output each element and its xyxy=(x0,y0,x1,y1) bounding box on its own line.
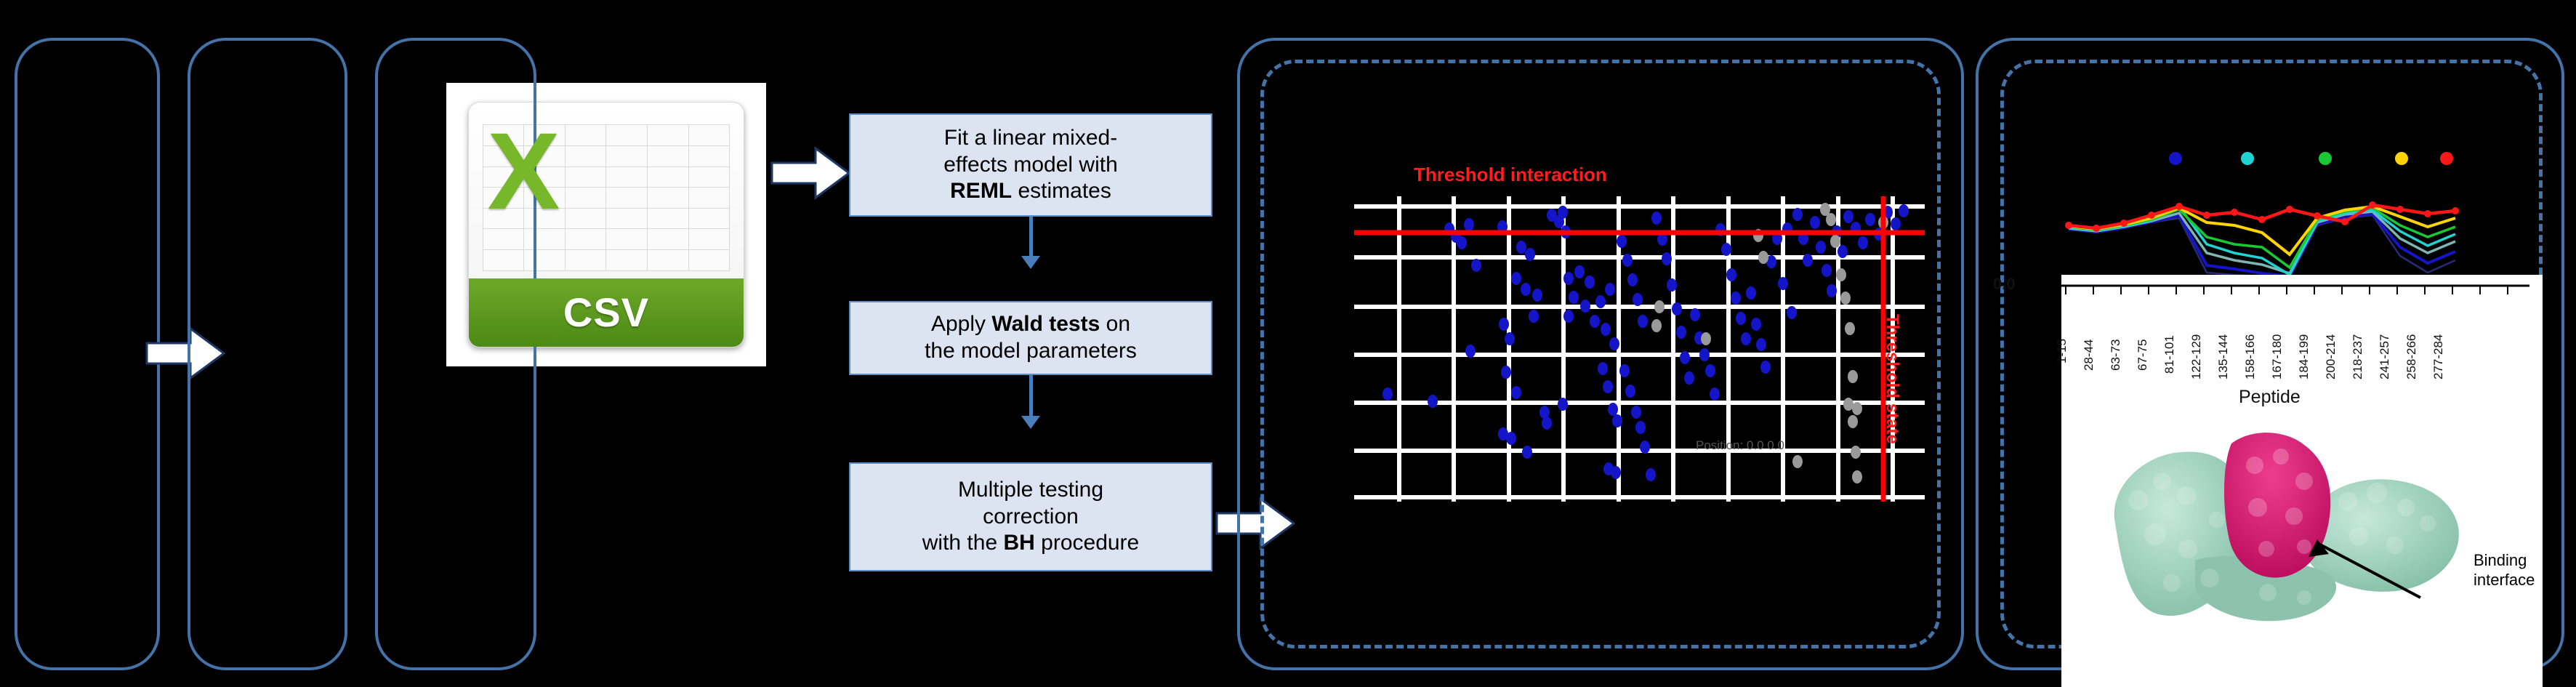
panel-csv-container xyxy=(188,38,347,670)
step3-bh: BH xyxy=(1003,531,1034,555)
csv-format-label: CSV xyxy=(469,278,744,347)
peptide-tick-11: 218-237 xyxy=(2351,334,2365,379)
peptide-tick-0: 1-15 xyxy=(2055,339,2069,363)
peptide-tick-2: 63-73 xyxy=(2109,340,2123,371)
peptide-tick-12: 241-257 xyxy=(2378,334,2392,379)
step1-line1: Fit a linear mixed- xyxy=(944,126,1117,150)
step3-line1: Multiple testing xyxy=(958,478,1103,502)
peptide-tick-8: 167-180 xyxy=(2270,334,2285,379)
peptide-tick-14: 277-284 xyxy=(2431,334,2446,379)
chart-ytick-label: 0.0 xyxy=(1993,275,2016,294)
connector-1-arrowhead xyxy=(1021,256,1040,269)
csv-icon-body: X CSV xyxy=(468,102,744,347)
step2-line2: the model parameters xyxy=(925,339,1137,363)
connector-1 xyxy=(1029,217,1033,257)
peptide-tick-7: 158-166 xyxy=(2243,334,2258,379)
step2-wald: Wald tests xyxy=(991,312,1100,336)
peptide-axis-caption: Peptide xyxy=(2239,387,2301,408)
step1-reml: REML xyxy=(950,179,1012,203)
chart-legend xyxy=(2169,152,2453,165)
excel-x-glyph: X xyxy=(474,108,573,234)
step1-line3-rest: estimates xyxy=(1012,179,1111,203)
protein-structure-svg xyxy=(2086,414,2493,632)
peptide-tick-1: 28-44 xyxy=(2082,340,2096,371)
peptide-tick-4: 81-101 xyxy=(2162,335,2177,374)
panel-input-container xyxy=(15,38,160,670)
peptide-axis xyxy=(2021,284,2529,298)
scatter-threshold-state-label: Threshold state xyxy=(1882,314,1902,444)
csv-file-icon: X CSV xyxy=(446,83,766,366)
peptide-tick-5: 122-129 xyxy=(2189,334,2204,379)
step-fit-model-box: Fit a linear mixed- effects model with R… xyxy=(849,113,1212,217)
binding-interface-line1: Binding xyxy=(2474,551,2535,571)
peptide-tick-6: 135-144 xyxy=(2216,334,2231,379)
peptide-tick-10: 200-214 xyxy=(2324,334,2338,379)
protein-structure-image xyxy=(2086,414,2493,632)
step-wald-tests-box: Apply Wald tests on the model parameters xyxy=(849,301,1212,375)
svg-text:Position: 0.0 0.0: Position: 0.0 0.0 xyxy=(1696,438,1784,452)
connector-2 xyxy=(1029,375,1033,417)
step3-line2: correction xyxy=(983,505,1079,529)
peptide-tick-13: 258-266 xyxy=(2404,334,2419,379)
peptide-line-chart-svg xyxy=(2013,145,2479,276)
binding-interface-label: Binding interface xyxy=(2474,551,2535,590)
step2-line1-pre: Apply xyxy=(931,312,991,336)
flow-arrow-2 xyxy=(770,145,850,201)
step-bh-correction-box: Multiple testing correction with the BH … xyxy=(849,462,1212,571)
peptide-line-chart xyxy=(2013,145,2479,276)
step3-line3-post: procedure xyxy=(1035,531,1139,555)
binding-interface-line2: interface xyxy=(2474,571,2535,590)
connector-2-arrowhead xyxy=(1021,416,1040,429)
peptide-tick-3: 67-75 xyxy=(2136,340,2150,371)
peptide-tick-9: 184-199 xyxy=(2297,334,2311,379)
step3-line3-pre: with the xyxy=(922,531,1004,555)
scatter-plot: Position: 0.0 0.0 xyxy=(1354,196,1925,502)
scatter-plot-svg: Position: 0.0 0.0 xyxy=(1354,196,1925,502)
step1-line2: effects model with xyxy=(943,153,1118,177)
step2-line1-post: on xyxy=(1100,312,1130,336)
scatter-threshold-interaction-label: Threshold interaction xyxy=(1414,164,1607,186)
